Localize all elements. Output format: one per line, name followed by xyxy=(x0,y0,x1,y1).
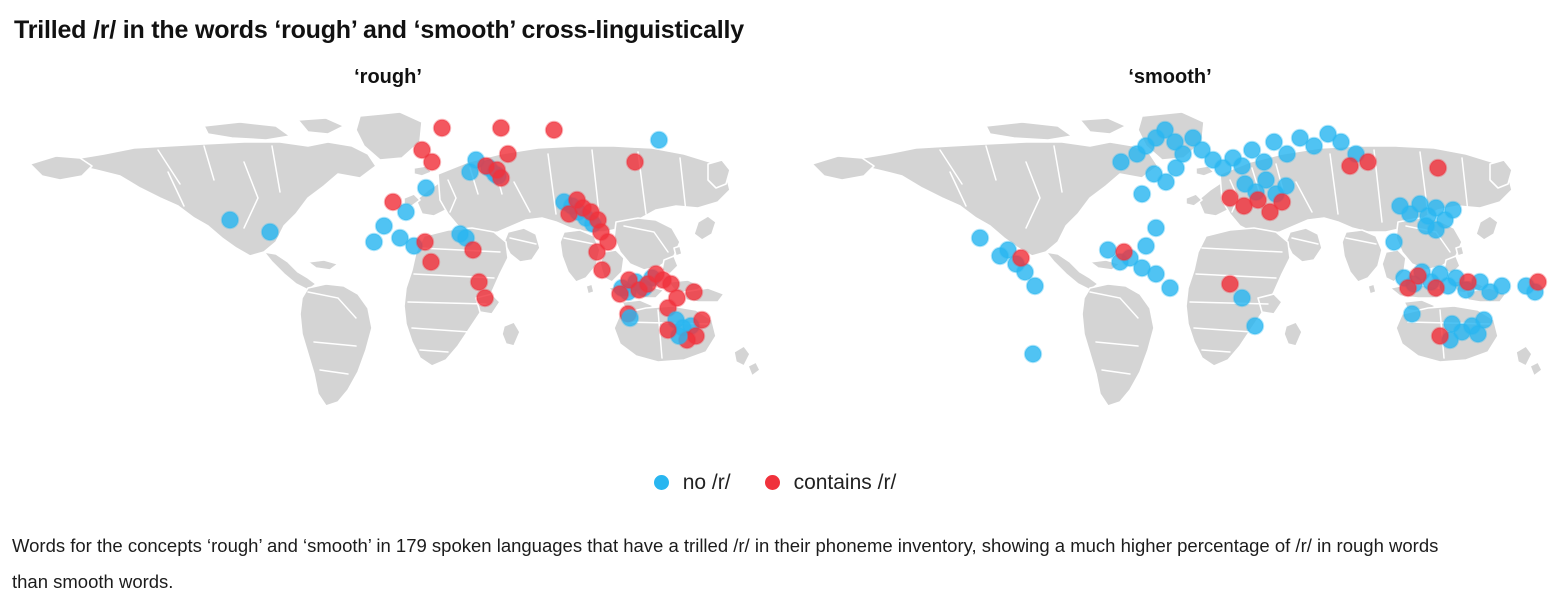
panel-title-rough: ‘rough’ xyxy=(8,66,768,89)
legend-label-contains-r: contains /r/ xyxy=(794,472,897,493)
figure-caption: Words for the concepts ‘rough’ and ‘smoo… xyxy=(12,528,1462,600)
world-map-svg-smooth xyxy=(790,102,1550,432)
world-map-smooth[interactable] xyxy=(790,102,1550,432)
legend: no /r/ contains /r/ xyxy=(0,472,1550,493)
world-map-svg-rough xyxy=(8,102,768,432)
map-panels: ‘rough’ ‘smooth’ xyxy=(0,66,1550,436)
map-panel-rough: ‘rough’ xyxy=(8,66,768,436)
legend-label-no-r: no /r/ xyxy=(683,472,731,493)
world-map-rough[interactable] xyxy=(8,102,768,432)
map-panel-smooth: ‘smooth’ xyxy=(790,66,1550,436)
panel-title-smooth: ‘smooth’ xyxy=(790,66,1550,89)
red-dot-icon xyxy=(765,475,780,490)
figure-root: Trilled /r/ in the words ‘rough’ and ‘sm… xyxy=(0,0,1550,614)
page-title: Trilled /r/ in the words ‘rough’ and ‘sm… xyxy=(14,16,744,45)
legend-item-no-r[interactable]: no /r/ xyxy=(654,472,731,493)
legend-item-contains-r[interactable]: contains /r/ xyxy=(765,472,897,493)
blue-dot-icon xyxy=(654,475,669,490)
